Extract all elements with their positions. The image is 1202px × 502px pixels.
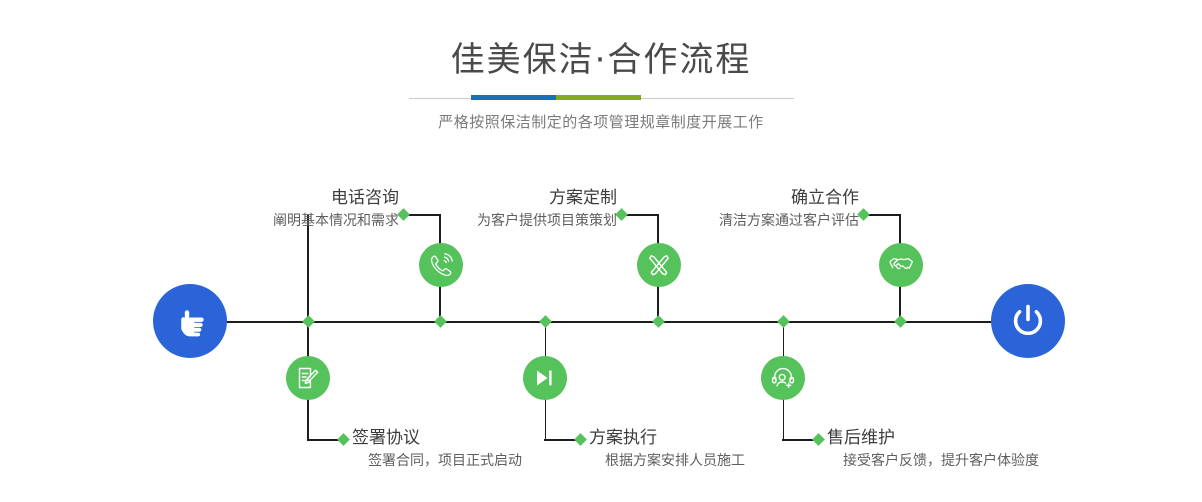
axis-marker-step-1	[302, 315, 315, 328]
phone-call-icon	[428, 252, 454, 278]
step-desc-5: 清洁方案通过客户评估	[719, 211, 859, 232]
step-title-4: 方案执行	[589, 427, 745, 449]
axis-marker-step-1b	[434, 315, 447, 328]
axis-marker-step-5b	[894, 315, 907, 328]
step-label-5: 确立合作 清洁方案通过客户评估	[719, 187, 859, 232]
label-marker-step-4	[574, 433, 587, 446]
step-icon-6[interactable]	[761, 356, 805, 400]
step-icon-1[interactable]	[419, 243, 463, 287]
label-marker-step-6	[812, 433, 825, 446]
headset-support-icon	[770, 365, 796, 391]
pointing-hand-icon	[170, 301, 210, 341]
play-step-icon	[532, 365, 558, 391]
step-icon-4[interactable]	[523, 356, 567, 400]
step-title-2: 签署协议	[352, 427, 522, 449]
handshake-icon	[888, 252, 914, 278]
step-desc-6: 接受客户反馈，提升客户体验度	[827, 451, 1039, 472]
pencil-design-icon	[646, 252, 672, 278]
axis-marker-step-5	[777, 315, 790, 328]
step-label-3: 方案定制 为客户提供项目策策划	[477, 187, 617, 232]
timeline-start-endpoint	[153, 284, 227, 358]
step-title-6: 售后维护	[827, 427, 1039, 449]
label-marker-step-3	[615, 208, 628, 221]
timeline-axis	[160, 321, 1040, 323]
document-edit-icon	[295, 365, 321, 391]
step-desc-4: 根据方案安排人员施工	[589, 451, 745, 472]
step-label-4: 方案执行 根据方案安排人员施工	[589, 427, 745, 472]
step-desc-2: 签署合同，项目正式启动	[352, 451, 522, 472]
step-label-6: 售后维护 接受客户反馈，提升客户体验度	[827, 427, 1039, 472]
timeline-end-endpoint	[991, 284, 1065, 358]
step-desc-1: 阐明基本情况和需求	[273, 211, 399, 232]
step-icon-3[interactable]	[637, 243, 681, 287]
label-marker-step-5	[857, 208, 870, 221]
power-icon	[1007, 300, 1049, 342]
process-timeline: 电话咨询 阐明基本情况和需求 签署协议 签署合同，项目正式启动	[0, 0, 1202, 502]
step-title-5: 确立合作	[719, 187, 859, 209]
axis-marker-step-3	[539, 315, 552, 328]
label-marker-step-2	[337, 433, 350, 446]
step-title-1: 电话咨询	[273, 187, 399, 209]
axis-marker-step-3b	[652, 315, 665, 328]
label-marker-step-1	[397, 208, 410, 221]
step-label-2: 签署协议 签署合同，项目正式启动	[352, 427, 522, 472]
step-title-3: 方案定制	[477, 187, 617, 209]
step-icon-2[interactable]	[286, 356, 330, 400]
step-label-1: 电话咨询 阐明基本情况和需求	[273, 187, 399, 232]
step-desc-3: 为客户提供项目策策划	[477, 211, 617, 232]
step-icon-5[interactable]	[879, 243, 923, 287]
